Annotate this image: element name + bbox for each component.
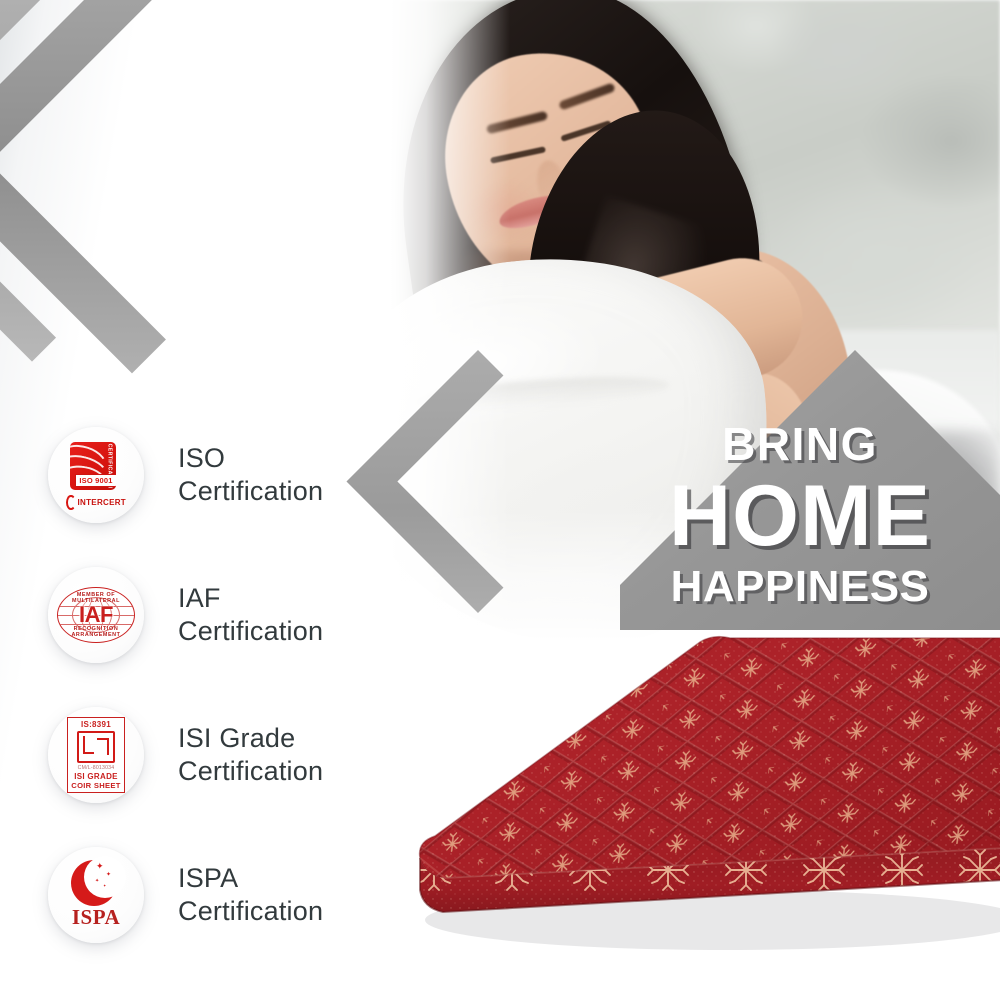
intercert-c-icon xyxy=(66,495,76,510)
isi-mark-icon: IS:8391 CM/L-8013034 ISI GRADE COIR SHEE… xyxy=(67,717,125,793)
ispa-star-icon: ✦ xyxy=(103,884,106,888)
isi-licence-number: CM/L-8013034 xyxy=(78,765,115,771)
iaf-badge: MEMBER OF MULTILATERAL IAF RECOGNITION A… xyxy=(48,567,144,663)
certification-label-ispa: ISPA Certification xyxy=(178,862,323,928)
iaf-letters: IAF xyxy=(57,602,135,628)
certification-label-isi: ISI Grade Certification xyxy=(178,722,323,788)
cert-label-line2: Certification xyxy=(178,615,323,648)
certification-label-iso: ISO Certification xyxy=(178,442,323,508)
certification-item-iso[interactable]: CERTIFICATION ISO 9001 INTERCERT ISO Cer… xyxy=(48,405,388,545)
ispa-wordmark: ISPA xyxy=(65,905,127,930)
isi-badge: IS:8391 CM/L-8013034 ISI GRADE COIR SHEE… xyxy=(48,707,144,803)
ispa-badge: ✦ ✦ ✦ ✦ ISPA xyxy=(48,847,144,943)
certification-item-isi[interactable]: IS:8391 CM/L-8013034 ISI GRADE COIR SHEE… xyxy=(48,685,388,825)
certification-item-iaf[interactable]: MEMBER OF MULTILATERAL IAF RECOGNITION A… xyxy=(48,545,388,685)
iaf-arc-bottom-text: RECOGNITION ARRANGEMENT xyxy=(57,626,135,638)
chevron-decoration-top-left xyxy=(0,0,520,400)
ispa-star-icon: ✦ xyxy=(96,862,104,871)
certification-label-iaf: IAF Certification xyxy=(178,582,323,648)
isi-standard-label: IS:8391 xyxy=(81,720,111,729)
ispa-crescent-moon-icon: ✦ ✦ ✦ ✦ ISPA xyxy=(65,860,127,930)
ispa-star-icon: ✦ xyxy=(106,872,111,878)
intercert-wordmark: INTERCERT xyxy=(78,498,126,507)
cert-label-line2: Certification xyxy=(178,755,323,788)
poster-canvas: BRING HOME HAPPINESS xyxy=(0,0,1000,1000)
certification-item-ispa[interactable]: ✦ ✦ ✦ ✦ ISPA ISPA Certification xyxy=(48,825,388,965)
product-mattress xyxy=(395,590,1000,970)
cert-label-line1: ISI Grade xyxy=(178,723,295,753)
isi-grade-line-1: ISI GRADE xyxy=(74,772,118,781)
isi-monogram-icon xyxy=(77,731,115,763)
cert-label-line2: Certification xyxy=(178,475,323,508)
certification-list: CERTIFICATION ISO 9001 INTERCERT ISO Cer… xyxy=(48,405,388,965)
cert-label-line1: ISPA xyxy=(178,863,238,893)
cert-label-line1: ISO xyxy=(178,443,225,473)
cert-label-line1: IAF xyxy=(178,583,221,613)
headline-panel xyxy=(600,330,1000,630)
iaf-globe-icon: MEMBER OF MULTILATERAL IAF RECOGNITION A… xyxy=(57,587,135,643)
iso-badge: CERTIFICATION ISO 9001 INTERCERT xyxy=(48,427,144,523)
cert-label-line2: Certification xyxy=(178,895,323,928)
ispa-star-icon: ✦ xyxy=(95,879,99,884)
iso-standard-label: ISO 9001 xyxy=(75,474,116,487)
isi-grade-line-2: COIR SHEET xyxy=(71,781,120,790)
iso-9001-intercert-icon: CERTIFICATION ISO 9001 INTERCERT xyxy=(66,442,126,508)
